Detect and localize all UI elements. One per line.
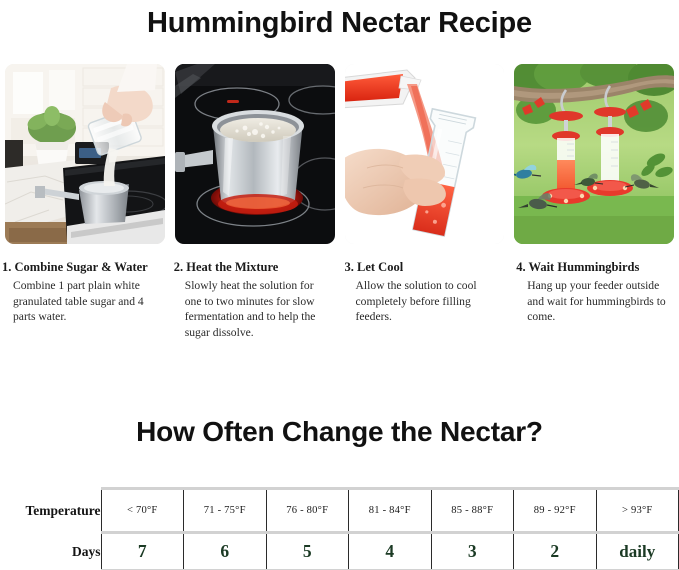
step-4-heading: 4. Wait Hummingbirds [516, 260, 667, 275]
step-3: 3. Let Cool Allow the solution to cool c… [340, 260, 510, 340]
step-4: 4. Wait Hummingbirds Hang up your feeder… [509, 260, 679, 340]
days-cell-5: 3 [431, 533, 514, 570]
step-photo-row [5, 64, 674, 244]
temperature-cell-5: 85 - 88°F [431, 489, 514, 533]
step-1-heading: 1. Combine Sugar & Water [2, 260, 158, 275]
days-cell-1: 7 [101, 533, 184, 570]
steps-row: 1. Combine Sugar & Water Combine 1 part … [0, 260, 679, 340]
step-1: 1. Combine Sugar & Water Combine 1 part … [0, 260, 170, 340]
step-4-body: Hang up your feeder outside and wait for… [516, 278, 667, 325]
pouring-sugar-into-saucepan-photo [5, 64, 165, 244]
table-row-days: Days 7 6 5 4 3 2 daily [0, 533, 679, 570]
temperature-cell-1: < 70°F [101, 489, 184, 533]
step-2-body: Slowly heat the solution for one to two … [174, 278, 328, 340]
infographic-page: Hummingbird Nectar Recipe [0, 0, 679, 570]
page-title-recipe: Hummingbird Nectar Recipe [0, 0, 679, 40]
step-3-heading: 3. Let Cool [345, 260, 498, 275]
days-cell-2: 6 [184, 533, 267, 570]
step-2: 2. Heat the Mixture Slowly heat the solu… [170, 260, 340, 340]
page-title-change-frequency: How Often Change the Nectar? [0, 415, 679, 449]
temperature-cell-6: 89 - 92°F [514, 489, 597, 533]
temperature-cell-3: 76 - 80°F [266, 489, 349, 533]
row-label-days: Days [0, 533, 101, 570]
temperature-cell-7: > 93°F [596, 489, 679, 533]
days-cell-3: 5 [266, 533, 349, 570]
nectar-change-table-wrap: Temperature < 70°F 71 - 75°F 76 - 80°F 8… [0, 487, 679, 570]
days-cell-6: 2 [514, 533, 597, 570]
hummingbird-feeders-on-branch-photo [514, 64, 674, 244]
step-1-body: Combine 1 part plain white granulated ta… [2, 278, 158, 325]
step-2-heading: 2. Heat the Mixture [174, 260, 328, 275]
nectar-change-table: Temperature < 70°F 71 - 75°F 76 - 80°F 8… [0, 487, 679, 570]
days-cell-4: 4 [349, 533, 432, 570]
saucepan-on-hot-burner-photo [175, 64, 335, 244]
temperature-cell-4: 81 - 84°F [349, 489, 432, 533]
pouring-red-nectar-into-bottle-photo [345, 64, 505, 244]
step-3-body: Allow the solution to cool completely be… [345, 278, 498, 325]
temperature-cell-2: 71 - 75°F [184, 489, 267, 533]
days-cell-7: daily [596, 533, 679, 570]
row-label-temperature: Temperature [0, 489, 101, 533]
table-row-temperature: Temperature < 70°F 71 - 75°F 76 - 80°F 8… [0, 489, 679, 533]
